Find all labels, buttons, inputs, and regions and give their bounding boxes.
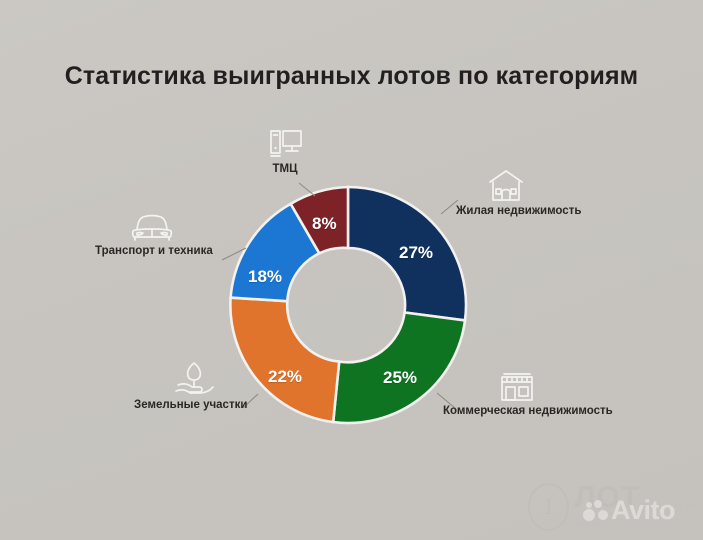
slice-value-goods: 8%	[312, 214, 337, 234]
avito-logo-icon	[583, 499, 609, 523]
slice-value-land: 22%	[268, 367, 302, 387]
leader-line-goods	[299, 183, 315, 196]
donut-slices	[230, 187, 466, 423]
donut-chart	[0, 0, 703, 540]
avito-brand-name: Avito	[611, 497, 675, 524]
car-icon	[129, 210, 213, 244]
slice-value-transport: 18%	[248, 267, 282, 287]
legend-label-residential: Жилая недвижимость	[456, 204, 581, 218]
legend-item-commercial[interactable]: Коммерческая недвижимость	[443, 368, 613, 418]
legend-item-transport[interactable]: Транспорт и техника	[95, 210, 213, 258]
lot-badge-number: 1	[528, 483, 569, 531]
plant-in-hand-icon	[172, 360, 247, 398]
legend-item-land[interactable]: Земельные участки	[134, 360, 247, 412]
slice-value-residential: 27%	[399, 243, 433, 263]
storefront-icon	[497, 368, 613, 404]
legend-label-commercial: Коммерческая недвижимость	[443, 404, 613, 418]
legend-label-transport: Транспорт и техника	[95, 244, 213, 258]
infographic-canvas: Статистика выигранных лотов по категория…	[0, 0, 703, 540]
slice-value-commercial: 25%	[383, 368, 417, 388]
desktop-computer-icon	[268, 128, 308, 162]
legend-label-land: Земельные участки	[134, 398, 247, 412]
legend-item-goods[interactable]: ТМЦ	[262, 128, 308, 176]
house-icon	[486, 168, 581, 204]
avito-watermark: Avito	[583, 497, 675, 524]
legend-item-residential[interactable]: Жилая недвижимость	[456, 168, 581, 218]
legend-label-goods: ТМЦ	[262, 162, 308, 176]
